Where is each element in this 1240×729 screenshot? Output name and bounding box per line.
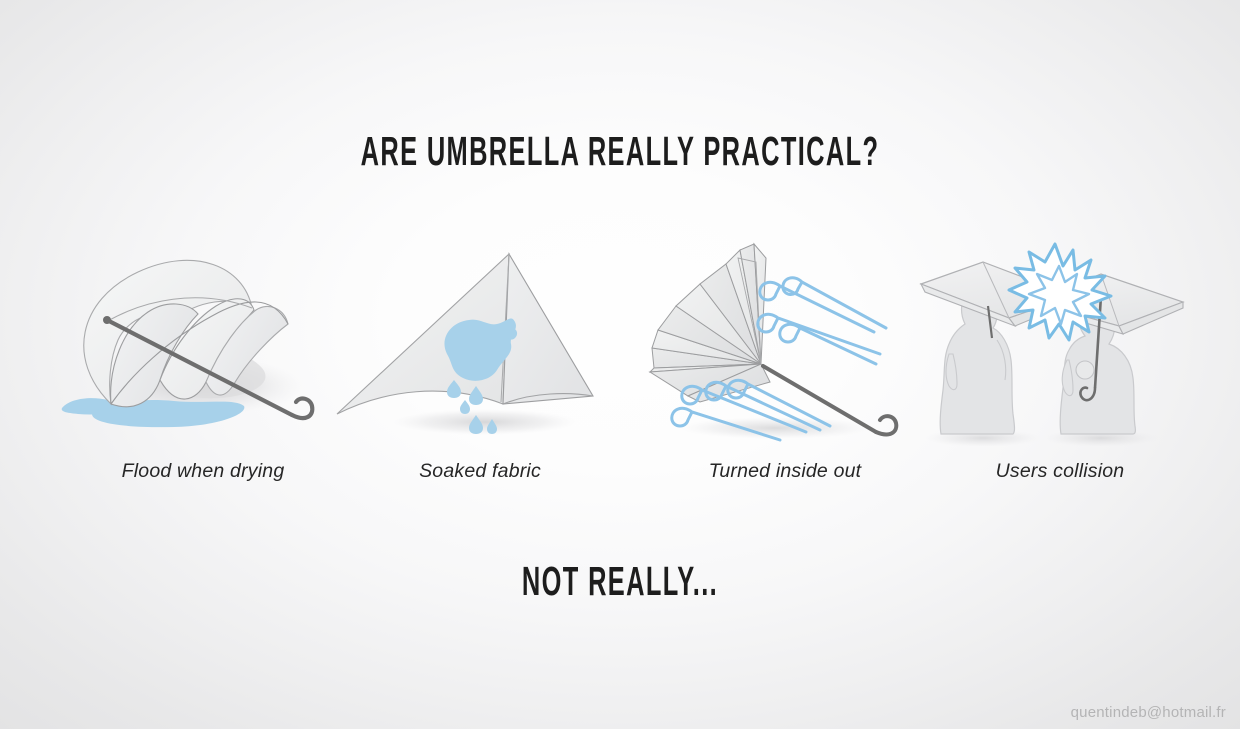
panel-soaked-fabric: Soaked fabric <box>325 236 635 506</box>
panel-flood-when-drying: Flood when drying <box>48 236 358 506</box>
illustration-flat-wet-fabric-with-dripping-water <box>325 236 635 446</box>
illustration-inverted-umbrella-with-wind-gusts <box>630 236 940 446</box>
wind-gust-upper <box>758 278 886 364</box>
page-title: ARE UMBRELLA REALLY PRACTICAL? <box>236 128 1005 175</box>
infographic-poster: ARE UMBRELLA REALLY PRACTICAL? <box>0 0 1240 729</box>
panel-caption: Users collision <box>905 460 1215 483</box>
panel-users-collision: Users collision <box>905 236 1215 506</box>
author-credit: quentindeb@hotmail.fr <box>1071 704 1226 721</box>
ground-shadow <box>393 409 577 435</box>
panel-turned-inside-out: Turned inside out <box>630 236 940 506</box>
conclusion-text: NOT REALLY... <box>236 558 1005 605</box>
panel-caption: Flood when drying <box>48 460 358 483</box>
illustration-two-pedestrians-umbrellas-colliding <box>905 236 1215 446</box>
water-puddle <box>62 398 245 427</box>
illustration-open-umbrella-leaning-in-puddle <box>48 236 358 446</box>
inverted-canopy <box>650 244 770 402</box>
panel-caption: Soaked fabric <box>325 460 635 483</box>
panel-caption: Turned inside out <box>630 460 940 483</box>
